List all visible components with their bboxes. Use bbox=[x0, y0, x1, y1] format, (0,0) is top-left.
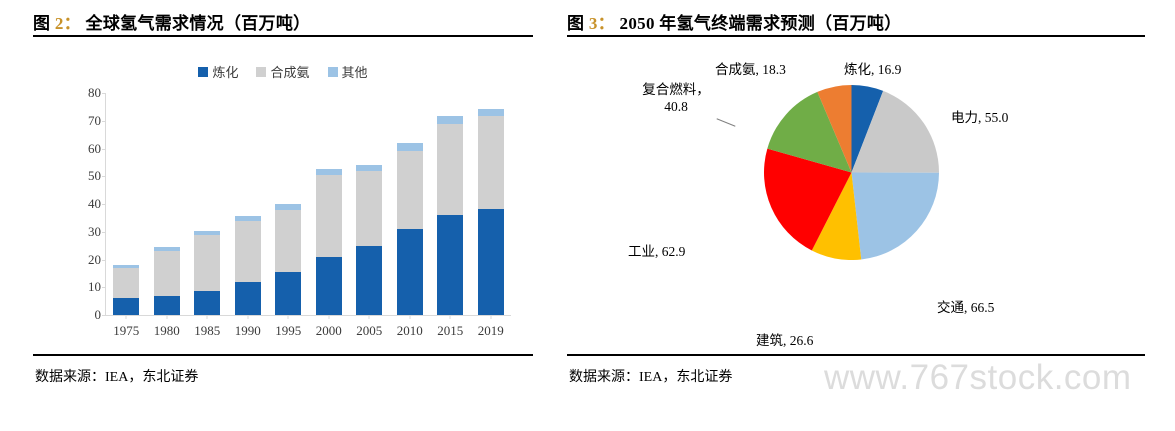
bar-segment-qita[interactable] bbox=[397, 143, 423, 151]
y-tick-label: 60 bbox=[88, 141, 101, 157]
bar-segment-hechengan[interactable] bbox=[235, 221, 261, 282]
figure-page: 图 2： 全球氢气需求情况（百万吨） 炼化 合成氨 其他 bbox=[0, 0, 1175, 431]
x-tick-label: 2000 bbox=[316, 323, 342, 339]
stacked-bar[interactable] bbox=[316, 169, 342, 315]
y-tick-label: 40 bbox=[88, 196, 101, 212]
bar-segment-hechengan[interactable] bbox=[478, 116, 504, 209]
figure-2-panel: 图 2： 全球氢气需求情况（百万吨） 炼化 合成氨 其他 bbox=[33, 0, 533, 431]
legend-item-lianhua: 炼化 bbox=[198, 62, 238, 81]
x-tick-mark bbox=[288, 315, 289, 319]
figure-2-source: 数据来源：IEA，东北证券 bbox=[35, 366, 198, 386]
legend-item-hechengan: 合成氨 bbox=[256, 62, 309, 81]
bar-segment-hechengan[interactable] bbox=[397, 151, 423, 229]
legend-swatch-lianhua bbox=[198, 67, 208, 77]
pie-label-gongye: 工业, 62.9 bbox=[628, 244, 685, 261]
x-tick-mark bbox=[409, 315, 410, 319]
bar-segment-lianhua[interactable] bbox=[397, 229, 423, 315]
pie-chart: 合成氨, 18.3 炼化, 16.9 复合燃料， 40.8 电力, 55.0 交… bbox=[567, 50, 1145, 350]
figure-3-title-number: 3： bbox=[589, 14, 615, 33]
bar-segment-hechengan[interactable] bbox=[316, 175, 342, 257]
stacked-bar[interactable] bbox=[113, 265, 139, 316]
x-tick-mark bbox=[328, 315, 329, 319]
bar-group: 1975198019851990199520002005201020152019 bbox=[106, 93, 511, 315]
bar-slot[interactable]: 2019 bbox=[471, 93, 512, 315]
pie-label-dianli: 电力, 55.0 bbox=[951, 110, 1008, 127]
bar-chart: 炼化 合成氨 其他 01020304050607080 197519801985… bbox=[33, 58, 533, 343]
y-tick-label: 80 bbox=[88, 85, 101, 101]
figure-2-title: 图 2： 全球氢气需求情况（百万吨） bbox=[33, 9, 310, 34]
bar-segment-hechengan[interactable] bbox=[356, 171, 382, 246]
stacked-bar[interactable] bbox=[275, 204, 301, 315]
y-tick-mark bbox=[102, 315, 106, 316]
stacked-bar[interactable] bbox=[437, 116, 463, 315]
bar-segment-hechengan[interactable] bbox=[275, 210, 301, 272]
pie-label-fuheranliao-line2: 40.8 bbox=[628, 99, 724, 116]
figure-2-title-text: 全球氢气需求情况（百万吨） bbox=[86, 14, 311, 33]
bar-segment-qita[interactable] bbox=[478, 109, 504, 116]
figure-3-title: 图 3： 2050 年氢气终端需求预测（百万吨） bbox=[567, 9, 902, 34]
x-tick-mark bbox=[247, 315, 248, 319]
y-tick-label: 0 bbox=[95, 307, 102, 323]
bar-segment-lianhua[interactable] bbox=[478, 209, 504, 315]
bar-slot[interactable]: 1975 bbox=[106, 93, 147, 315]
bar-segment-lianhua[interactable] bbox=[437, 215, 463, 315]
pie-label-jiaotong: 交通, 66.5 bbox=[937, 300, 994, 317]
bar-slot[interactable]: 1995 bbox=[268, 93, 309, 315]
bar-segment-lianhua[interactable] bbox=[275, 272, 301, 315]
bar-segment-lianhua[interactable] bbox=[194, 291, 220, 315]
figure-3-panel: 图 3： 2050 年氢气终端需求预测（百万吨） 合成氨, 18.3 炼化, 1… bbox=[567, 0, 1145, 431]
pie-label-lianhua: 炼化, 16.9 bbox=[844, 62, 901, 79]
bar-segment-qita[interactable] bbox=[437, 116, 463, 124]
pie-svg bbox=[764, 85, 939, 260]
pie-chart-area bbox=[764, 85, 939, 260]
figure-2-title-number: 2： bbox=[55, 14, 81, 33]
x-tick-label: 1990 bbox=[235, 323, 261, 339]
pie-leader-fuheranliao bbox=[717, 118, 736, 126]
y-tick-label: 50 bbox=[88, 168, 101, 184]
bar-chart-legend: 炼化 合成氨 其他 bbox=[33, 62, 533, 81]
stacked-bar[interactable] bbox=[397, 143, 423, 315]
figure-3-source: 数据来源：IEA，东北证券 bbox=[569, 366, 732, 386]
legend-item-qita: 其他 bbox=[328, 62, 368, 81]
figure-3-top-rule bbox=[567, 35, 1145, 37]
bar-slot[interactable]: 1990 bbox=[228, 93, 269, 315]
bar-segment-hechengan[interactable] bbox=[154, 251, 180, 296]
bar-chart-plot-area: 01020304050607080 1975198019851990199520… bbox=[105, 93, 511, 316]
pie-label-fuheranliao-line1: 复合燃料， bbox=[628, 82, 724, 99]
x-tick-mark bbox=[490, 315, 491, 319]
pie-label-fuheranliao: 复合燃料， 40.8 bbox=[628, 82, 724, 116]
x-tick-mark bbox=[166, 315, 167, 319]
x-tick-label: 1985 bbox=[194, 323, 220, 339]
bar-segment-hechengan[interactable] bbox=[437, 124, 463, 216]
figure-2-top-rule bbox=[33, 35, 533, 37]
x-tick-label: 1980 bbox=[154, 323, 180, 339]
x-tick-mark bbox=[369, 315, 370, 319]
x-tick-label: 2019 bbox=[478, 323, 504, 339]
figure-3-title-prefix: 图 bbox=[567, 14, 584, 33]
x-tick-label: 2015 bbox=[437, 323, 463, 339]
bar-slot[interactable]: 1985 bbox=[187, 93, 228, 315]
y-tick-label: 30 bbox=[88, 224, 101, 240]
bar-segment-hechengan[interactable] bbox=[194, 235, 220, 291]
y-tick-label: 70 bbox=[88, 113, 101, 129]
figure-3-bottom-rule bbox=[567, 354, 1145, 356]
bar-segment-hechengan[interactable] bbox=[113, 268, 139, 298]
x-tick-label: 1975 bbox=[113, 323, 139, 339]
figure-2-title-prefix: 图 bbox=[33, 14, 50, 33]
bar-slot[interactable]: 2010 bbox=[390, 93, 431, 315]
x-tick-mark bbox=[207, 315, 208, 319]
y-tick-label: 20 bbox=[88, 252, 101, 268]
bar-segment-lianhua[interactable] bbox=[356, 246, 382, 315]
stacked-bar[interactable] bbox=[478, 109, 504, 315]
bar-segment-lianhua[interactable] bbox=[113, 298, 139, 315]
figure-3-title-text: 2050 年氢气终端需求预测（百万吨） bbox=[620, 14, 902, 33]
legend-swatch-qita bbox=[328, 67, 338, 77]
bar-slot[interactable]: 2000 bbox=[309, 93, 350, 315]
bar-slot[interactable]: 2005 bbox=[349, 93, 390, 315]
x-tick-label: 1995 bbox=[275, 323, 301, 339]
stacked-bar[interactable] bbox=[356, 165, 382, 315]
stacked-bar[interactable] bbox=[154, 247, 180, 315]
bar-segment-lianhua[interactable] bbox=[154, 296, 180, 315]
legend-swatch-hechengan bbox=[256, 67, 266, 77]
y-tick-label: 10 bbox=[88, 279, 101, 295]
figure-2-bottom-rule bbox=[33, 354, 533, 356]
legend-label-hechengan: 合成氨 bbox=[270, 62, 309, 81]
x-tick-mark bbox=[126, 315, 127, 319]
bar-segment-lianhua[interactable] bbox=[316, 257, 342, 315]
stacked-bar[interactable] bbox=[194, 231, 220, 315]
bar-segment-lianhua[interactable] bbox=[235, 282, 261, 315]
pie-label-jianzhu: 建筑, 26.6 bbox=[756, 333, 813, 350]
stacked-bar[interactable] bbox=[235, 216, 261, 315]
bar-slot[interactable]: 2015 bbox=[430, 93, 471, 315]
legend-label-qita: 其他 bbox=[342, 62, 368, 81]
pie-slice-交通[interactable] bbox=[852, 173, 939, 260]
legend-label-lianhua: 炼化 bbox=[212, 62, 238, 81]
x-tick-mark bbox=[450, 315, 451, 319]
pie-label-hechengan: 合成氨, 18.3 bbox=[715, 62, 786, 79]
x-tick-label: 2010 bbox=[397, 323, 423, 339]
x-tick-label: 2005 bbox=[356, 323, 382, 339]
bar-slot[interactable]: 1980 bbox=[147, 93, 188, 315]
